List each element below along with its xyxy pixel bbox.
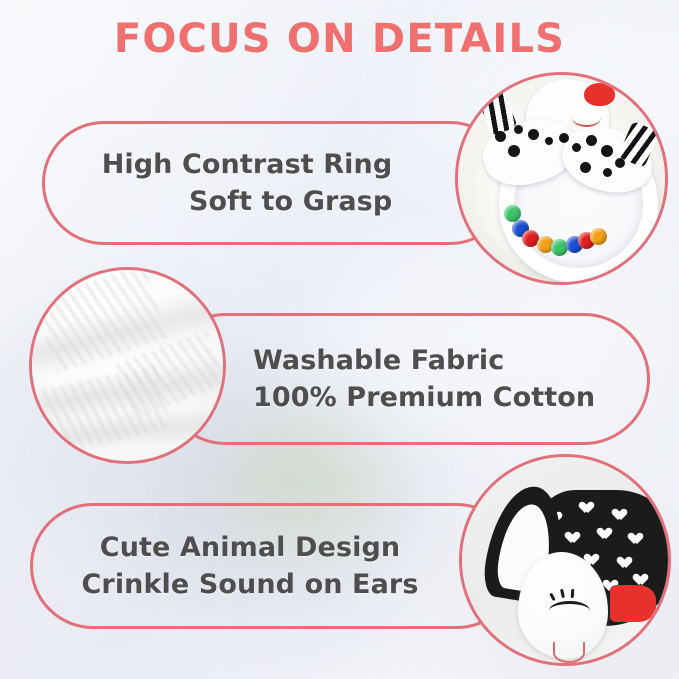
feature-text-block: High Contrast Ring Soft to Grasp bbox=[102, 146, 393, 221]
feature-line-2: Soft to Grasp bbox=[102, 183, 393, 220]
heart-motif bbox=[568, 532, 581, 544]
polka-dot bbox=[603, 168, 612, 177]
teething-ring-photo bbox=[455, 72, 668, 285]
photo-inner bbox=[32, 270, 223, 461]
heart-motif bbox=[582, 502, 595, 514]
feature-line-2: 100% Premium Cotton bbox=[253, 379, 595, 416]
photo-inner bbox=[462, 457, 668, 663]
smile-line bbox=[572, 108, 601, 127]
cat-scene bbox=[462, 457, 668, 663]
infographic-canvas: FOCUS ON DETAILS High Contrast Ring Soft… bbox=[0, 0, 679, 679]
cat-closed-eye bbox=[549, 601, 590, 620]
heart-motif bbox=[600, 528, 613, 540]
ring-scene bbox=[458, 75, 665, 282]
feature-line-1: Washable Fabric bbox=[253, 342, 595, 379]
heart-motif bbox=[631, 533, 644, 545]
polka-dot bbox=[545, 137, 553, 145]
polka-dot bbox=[508, 145, 520, 157]
feature-line-2: Crinkle Sound on Ears bbox=[81, 566, 418, 603]
heart-motif bbox=[615, 509, 628, 521]
heart-motif bbox=[620, 557, 633, 569]
feature-text-block: Cute Animal Design Crinkle Sound on Ears bbox=[81, 529, 418, 604]
feature-callout-washable-fabric: Washable Fabric 100% Premium Cotton bbox=[160, 313, 650, 445]
feature-text-block: Washable Fabric 100% Premium Cotton bbox=[253, 342, 595, 417]
red-accent-fabric bbox=[610, 585, 655, 622]
red-nose bbox=[584, 83, 615, 106]
photo-inner bbox=[458, 75, 665, 282]
cotton-fabric-photo bbox=[29, 267, 226, 464]
polka-dot bbox=[580, 162, 591, 173]
polka-dot bbox=[514, 125, 523, 134]
feature-line-1: High Contrast Ring bbox=[102, 146, 393, 183]
cat-mouth bbox=[553, 642, 586, 663]
cat-toy-photo bbox=[459, 454, 671, 666]
feature-callout-high-contrast-ring: High Contrast Ring Soft to Grasp bbox=[42, 121, 512, 245]
fabric-scene bbox=[32, 270, 223, 461]
feature-line-1: Cute Animal Design bbox=[81, 529, 418, 566]
page-title: FOCUS ON DETAILS bbox=[0, 16, 679, 62]
feature-callout-cute-animal-design: Cute Animal Design Crinkle Sound on Ears bbox=[30, 503, 520, 629]
